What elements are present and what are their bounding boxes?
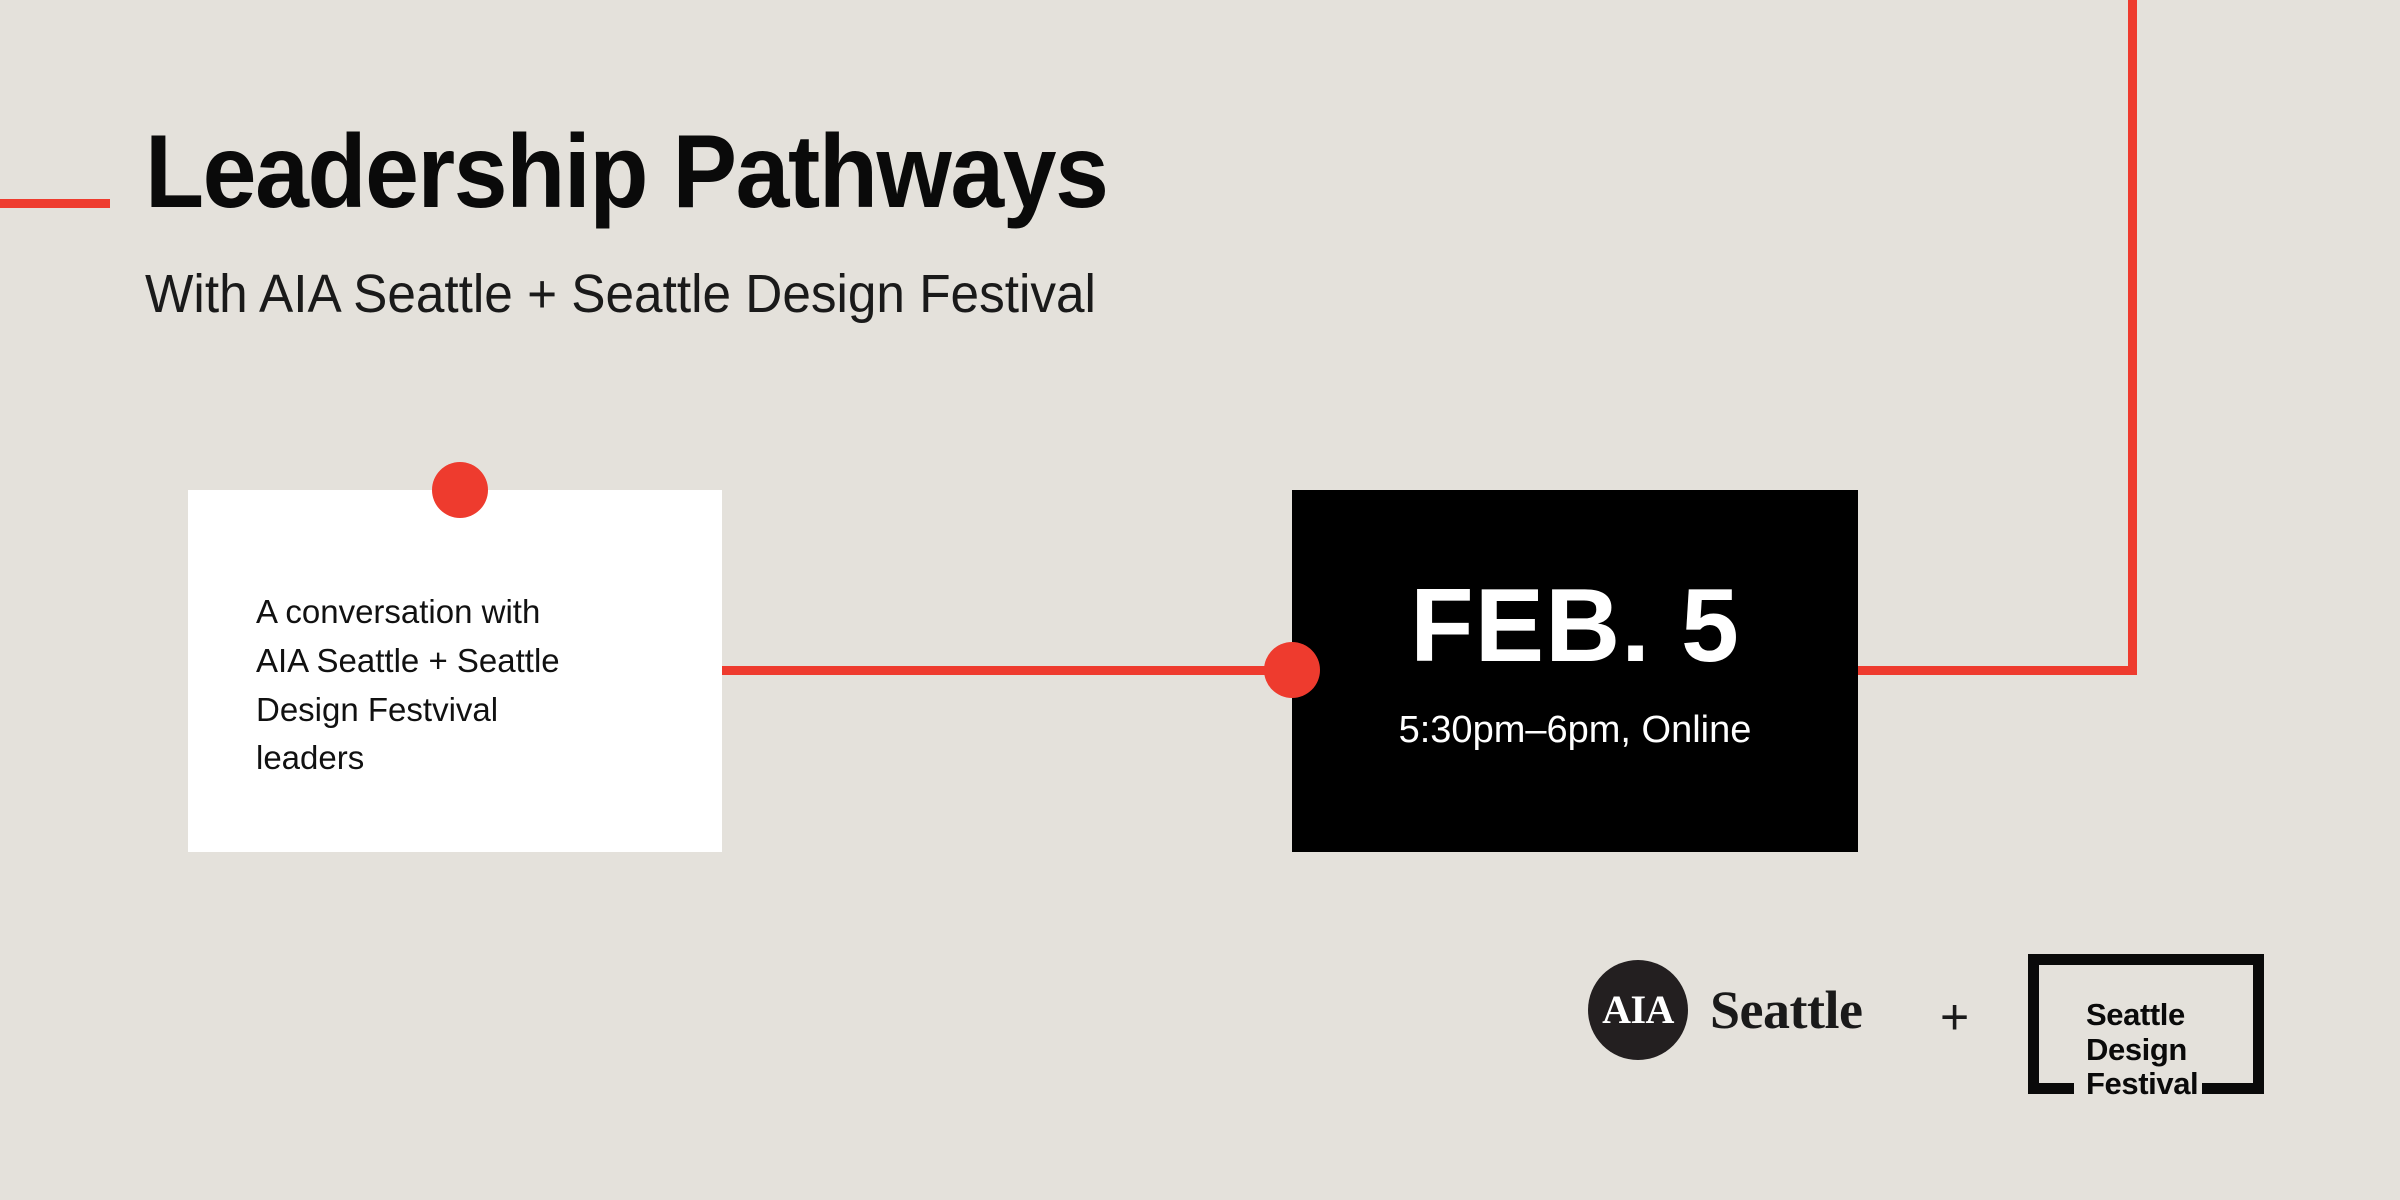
headline-block: Leadership Pathways With AIA Seattle + S… bbox=[145, 120, 1745, 323]
seattle-design-festival-logo: Seattle Design Festival bbox=[2028, 954, 2264, 1094]
sdf-frame-bottom-right-icon bbox=[2202, 1083, 2264, 1094]
accent-dot-line bbox=[1264, 642, 1320, 698]
aia-circle-icon: AIA bbox=[1588, 960, 1688, 1060]
sdf-frame-top-icon bbox=[2028, 954, 2264, 965]
sdf-frame-right-icon bbox=[2253, 954, 2264, 1094]
aia-wordmark-label: Seattle bbox=[1710, 983, 1862, 1037]
aia-mark-label: AIA bbox=[1602, 990, 1674, 1030]
page-subtitle: With AIA Seattle + Seattle Design Festiv… bbox=[145, 266, 1665, 323]
accent-rule-left bbox=[0, 199, 110, 208]
page-title: Leadership Pathways bbox=[145, 120, 1633, 224]
sdf-wordmark-label: Seattle Design Festival bbox=[2086, 998, 2198, 1102]
accent-rule-vertical-right bbox=[2128, 0, 2137, 671]
event-promo-graphic: Leadership Pathways With AIA Seattle + S… bbox=[0, 0, 2400, 1200]
logo-separator-plus: + bbox=[1940, 992, 1969, 1042]
info-card: A conversation with AIA Seattle + Seattl… bbox=[188, 490, 722, 852]
sdf-frame-bottom-left-icon bbox=[2028, 1083, 2074, 1094]
event-date: FEB. 5 bbox=[1292, 574, 1858, 678]
info-card-text: A conversation with AIA Seattle + Seattl… bbox=[256, 588, 676, 783]
logo-lockup: AIA Seattle + Seattle Design Festival bbox=[1588, 948, 2278, 1100]
sdf-frame-left-icon bbox=[2028, 954, 2039, 1094]
accent-dot-card bbox=[432, 462, 488, 518]
aia-seattle-logo: AIA Seattle bbox=[1588, 960, 1862, 1060]
event-time-location: 5:30pm–6pm, Online bbox=[1292, 708, 1858, 754]
date-box: FEB. 5 5:30pm–6pm, Online bbox=[1292, 490, 1858, 852]
